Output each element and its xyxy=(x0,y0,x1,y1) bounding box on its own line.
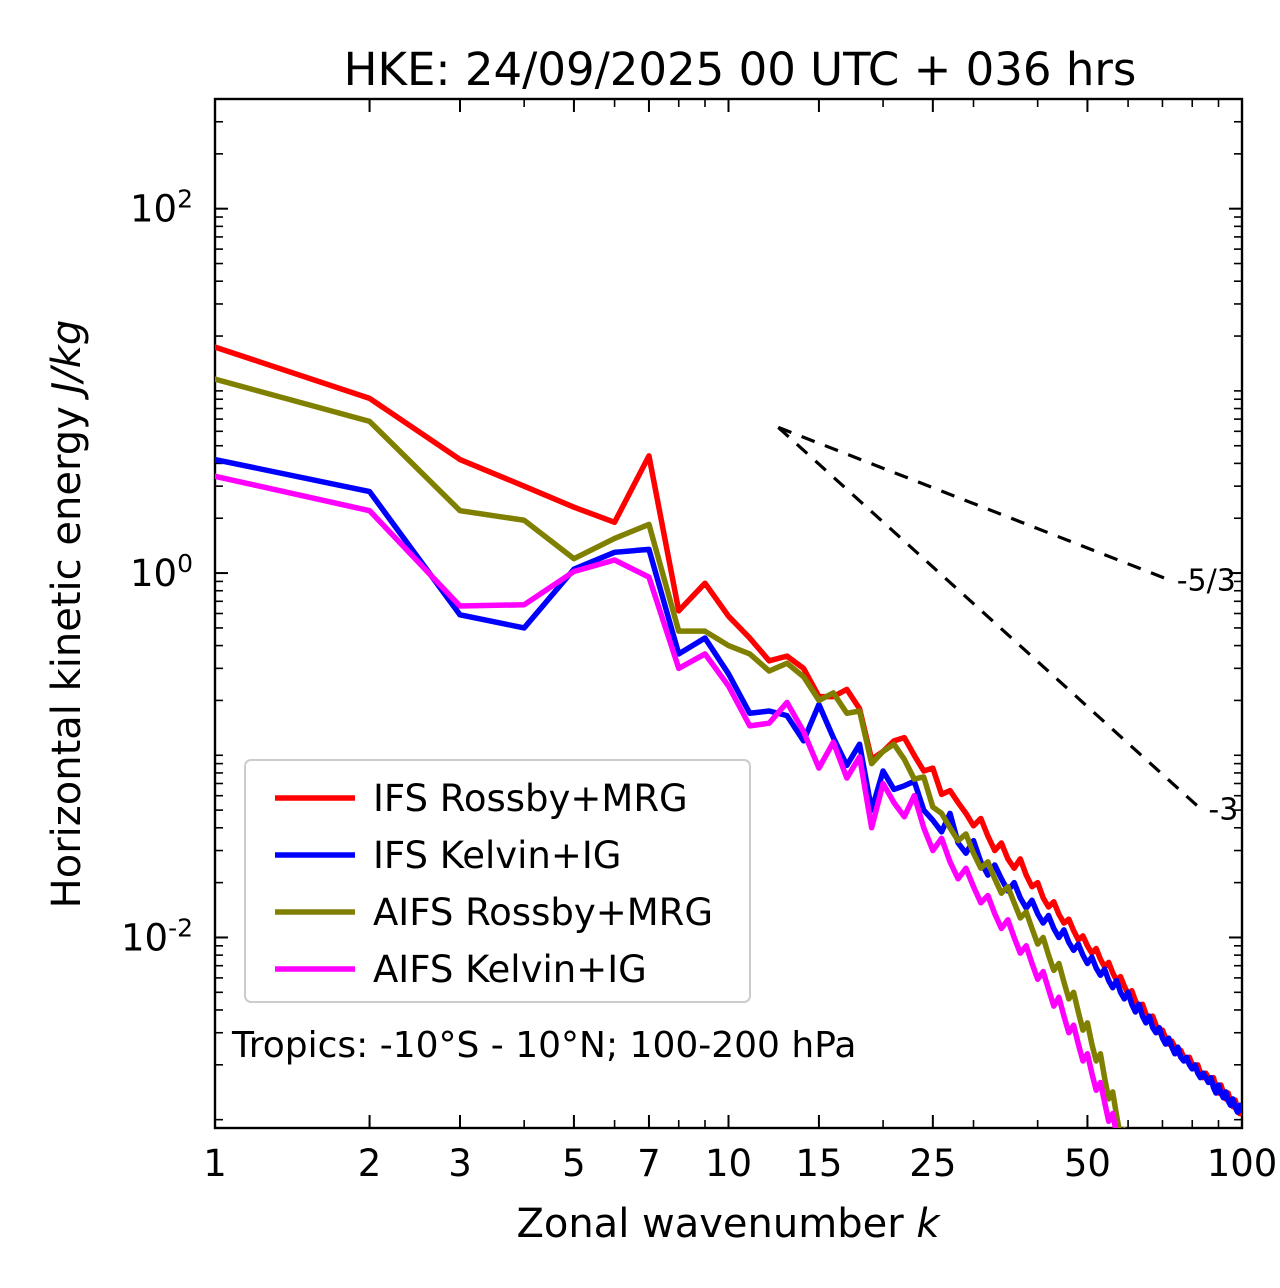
x-tick-label: 7 xyxy=(637,1142,661,1185)
x-tick-label: 10 xyxy=(705,1142,752,1185)
chart-title: HKE: 24/09/2025 00 UTC + 036 hrs xyxy=(344,43,1137,96)
x-tick-label: 25 xyxy=(909,1142,956,1185)
slope-line-0 xyxy=(778,427,1168,579)
legend-label-2: AIFS Rossby+MRG xyxy=(373,891,713,934)
x-tick-label: 50 xyxy=(1064,1142,1111,1185)
slope-label-1: -3 xyxy=(1208,793,1238,828)
x-tick-label: 2 xyxy=(358,1142,382,1185)
legend-label-0: IFS Rossby+MRG xyxy=(373,777,688,820)
legend-label-1: IFS Kelvin+IG xyxy=(373,834,621,877)
slope-label-0: -5/3 xyxy=(1177,564,1236,599)
y-axis-label: Horizontal kinetic energy J/kg xyxy=(44,320,90,909)
y-tick-label: 10-2 xyxy=(121,913,193,960)
figure-canvas: HKE: 24/09/2025 00 UTC + 036 hrs 1235710… xyxy=(0,0,1280,1288)
x-tick-label: 1 xyxy=(203,1142,227,1185)
region-annotation: Tropics: -10°S - 10°N; 100-200 hPa xyxy=(231,1025,856,1066)
x-tick-label: 100 xyxy=(1207,1142,1278,1185)
x-axis-label: Zonal wavenumber k xyxy=(516,1201,941,1247)
y-tick-label: 100 xyxy=(130,549,193,596)
x-tick-label: 3 xyxy=(448,1142,472,1185)
x-tick-label: 5 xyxy=(562,1142,586,1185)
legend-label-3: AIFS Kelvin+IG xyxy=(373,948,647,991)
y-tick-label: 102 xyxy=(130,184,193,231)
x-tick-label: 15 xyxy=(795,1142,842,1185)
chart-legend[interactable]: IFS Rossby+MRGIFS Kelvin+IGAIFS Rossby+M… xyxy=(245,760,750,1002)
x-axis-ticks: 1235710152550100 xyxy=(203,99,1277,1185)
hke-spectrum-chart: HKE: 24/09/2025 00 UTC + 036 hrs 1235710… xyxy=(0,0,1280,1288)
